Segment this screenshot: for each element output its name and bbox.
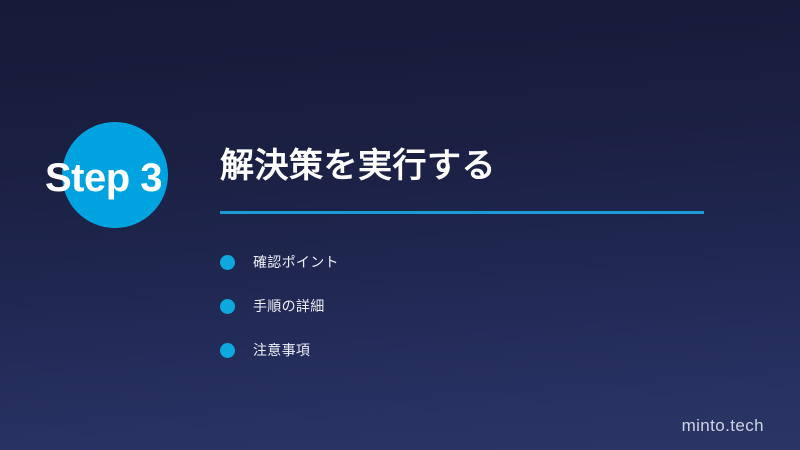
bullet-list: 確認ポイント 手順の詳細 注意事項 (220, 240, 680, 372)
bullet-dot-icon (220, 299, 235, 314)
bullet-dot-icon (220, 343, 235, 358)
step-badge: Step 3 (62, 122, 168, 228)
title-block: 解決策を実行する (220, 144, 720, 188)
footer-brand: minto.tech (682, 416, 764, 436)
slide-canvas: Step 3 解決策を実行する 確認ポイント 手順の詳細 注意事項 minto.… (0, 0, 800, 450)
list-item-label: 手順の詳細 (253, 296, 325, 316)
list-item: 注意事項 (220, 328, 680, 372)
list-item: 確認ポイント (220, 240, 680, 284)
slide-title: 解決策を実行する (220, 144, 720, 188)
bullet-dot-icon (220, 255, 235, 270)
list-item: 手順の詳細 (220, 284, 680, 328)
list-item-label: 注意事項 (253, 340, 310, 360)
list-item-label: 確認ポイント (253, 252, 339, 272)
step-label: Step 3 (45, 154, 245, 202)
title-divider (220, 211, 704, 214)
